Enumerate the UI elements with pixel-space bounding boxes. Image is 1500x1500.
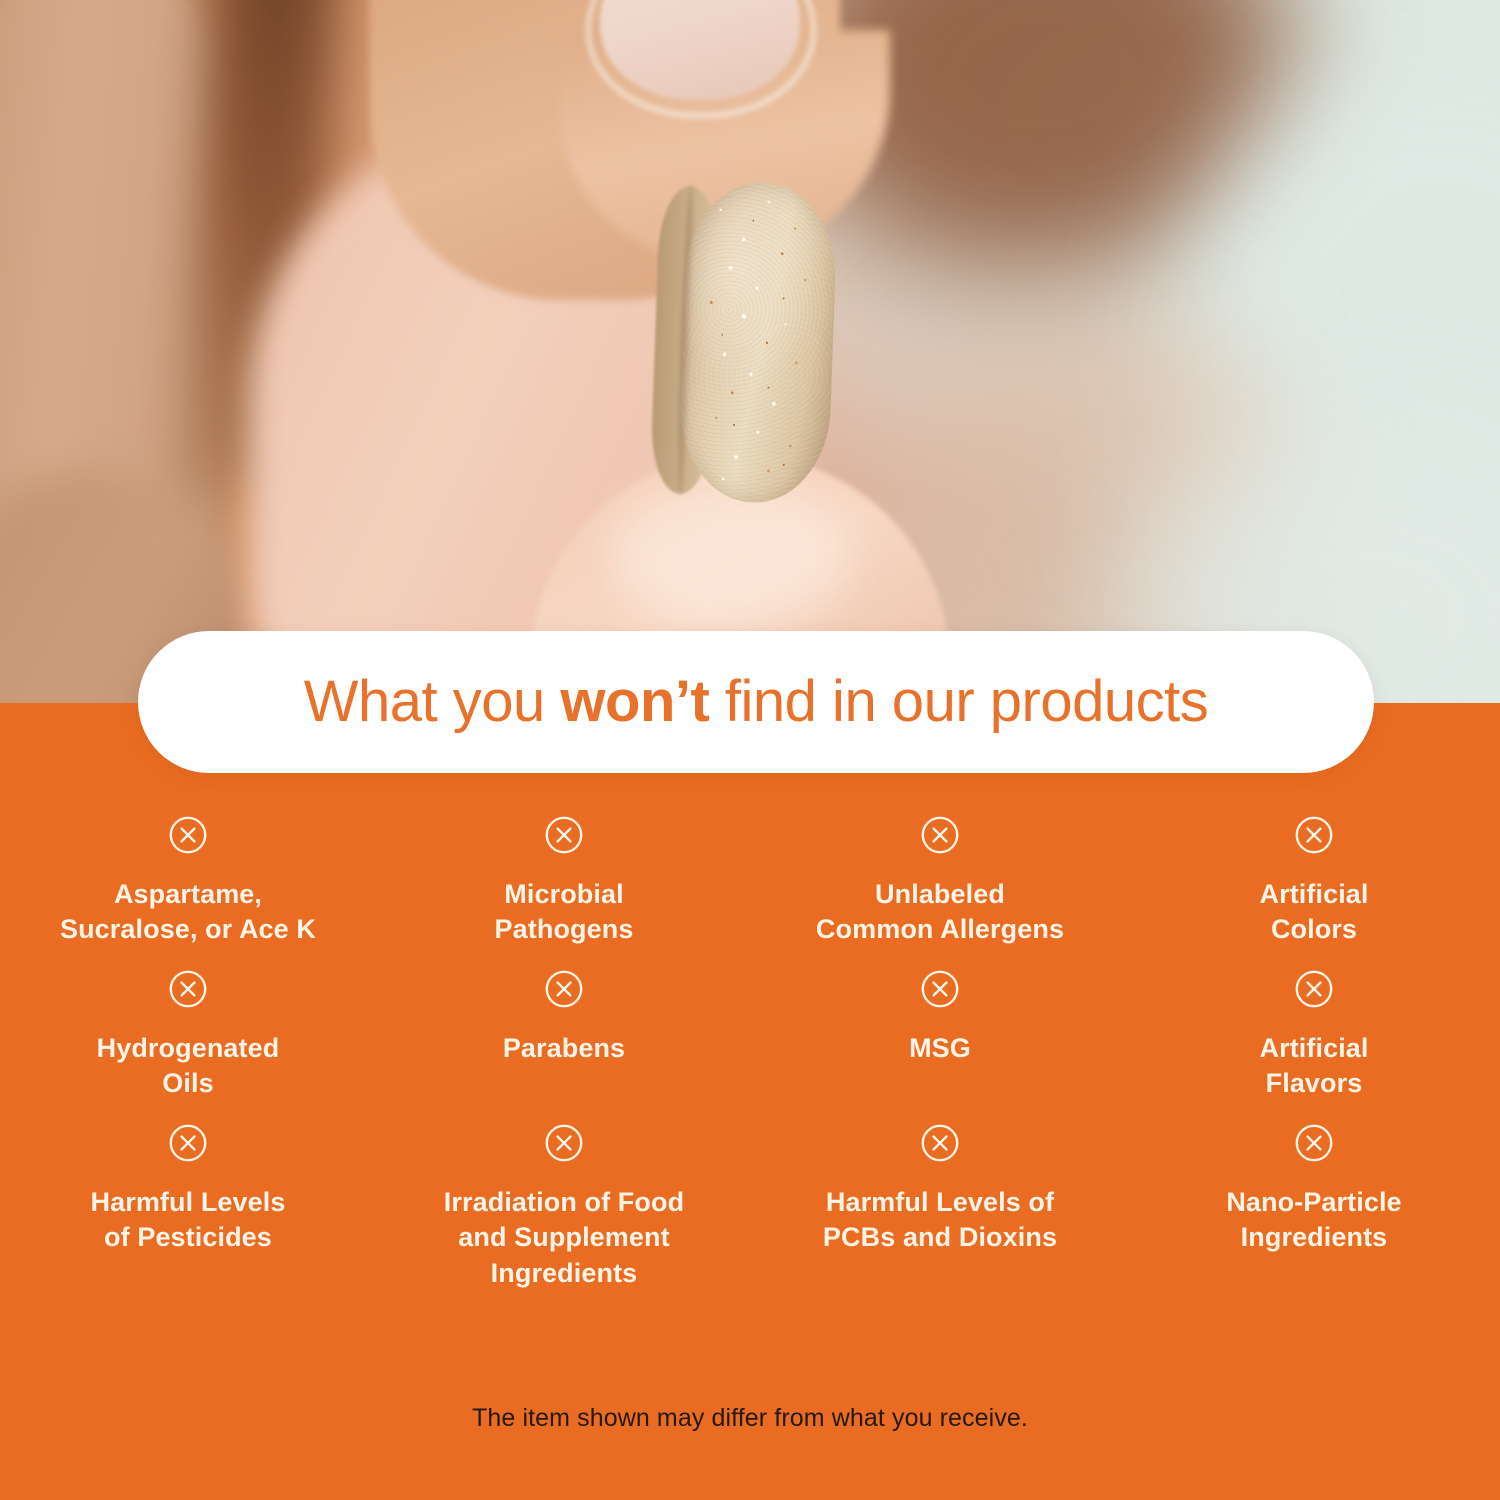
excluded-item-label: Harmful Levels of Pesticides <box>91 1185 286 1255</box>
circle-x-icon <box>544 969 584 1009</box>
circle-x-icon <box>168 969 208 1009</box>
excluded-item: Artificial Colors <box>1128 815 1500 947</box>
excluded-item-label: Artificial Colors <box>1259 877 1368 947</box>
excluded-item-label: Harmful Levels of PCBs and Dioxins <box>823 1185 1057 1255</box>
excluded-item: Hydrogenated Oils <box>0 969 376 1101</box>
excluded-item-label: Unlabeled Common Allergens <box>816 877 1064 947</box>
excluded-ingredients-grid: Aspartame, Sucralose, or Ace KMicrobial … <box>0 815 1500 1291</box>
circle-x-icon <box>920 969 960 1009</box>
circle-x-icon <box>1294 815 1334 855</box>
excluded-item: Microbial Pathogens <box>376 815 752 947</box>
headline-pill: What you won’t find in our products <box>138 631 1374 773</box>
excluded-item-label: Artificial Flavors <box>1259 1031 1368 1101</box>
excluded-item: Irradiation of Food and Supplement Ingre… <box>376 1123 752 1290</box>
excluded-item: Unlabeled Common Allergens <box>752 815 1128 947</box>
excluded-item-label: Irradiation of Food and Supplement Ingre… <box>444 1185 684 1290</box>
excluded-item: Harmful Levels of PCBs and Dioxins <box>752 1123 1128 1290</box>
excluded-item-label: Hydrogenated Oils <box>97 1031 280 1101</box>
circle-x-icon <box>920 1123 960 1163</box>
excluded-item: Parabens <box>376 969 752 1101</box>
page-title-before: What you <box>304 669 561 734</box>
excluded-item: Aspartame, Sucralose, or Ace K <box>0 815 376 947</box>
excluded-item-label: MSG <box>909 1031 971 1066</box>
tablet-face <box>677 180 838 505</box>
circle-x-icon <box>168 815 208 855</box>
excluded-item-label: Aspartame, Sucralose, or Ace K <box>60 877 316 947</box>
circle-x-icon <box>544 815 584 855</box>
circle-x-icon <box>1294 969 1334 1009</box>
excluded-item: Harmful Levels of Pesticides <box>0 1123 376 1290</box>
page-title-after: find in our products <box>709 669 1208 734</box>
excluded-item-label: Parabens <box>503 1031 625 1066</box>
excluded-item-label: Nano-Particle Ingredients <box>1226 1185 1401 1255</box>
excluded-item: MSG <box>752 969 1128 1101</box>
tablet-speckles <box>677 180 838 505</box>
circle-x-icon <box>920 815 960 855</box>
tablet-pill-icon <box>649 179 838 505</box>
excluded-item: Nano-Particle Ingredients <box>1128 1123 1500 1290</box>
product-infographic: What you won’t find in our products Aspa… <box>0 0 1500 1500</box>
page-title-emphasis: won’t <box>560 669 709 734</box>
excluded-item: Artificial Flavors <box>1128 969 1500 1101</box>
disclaimer-text: The item shown may differ from what you … <box>0 1404 1500 1433</box>
circle-x-icon <box>168 1123 208 1163</box>
circle-x-icon <box>1294 1123 1334 1163</box>
circle-x-icon <box>544 1123 584 1163</box>
hero-photo <box>0 0 1500 706</box>
excluded-item-label: Microbial Pathogens <box>495 877 634 947</box>
page-title: What you won’t find in our products <box>304 673 1208 731</box>
